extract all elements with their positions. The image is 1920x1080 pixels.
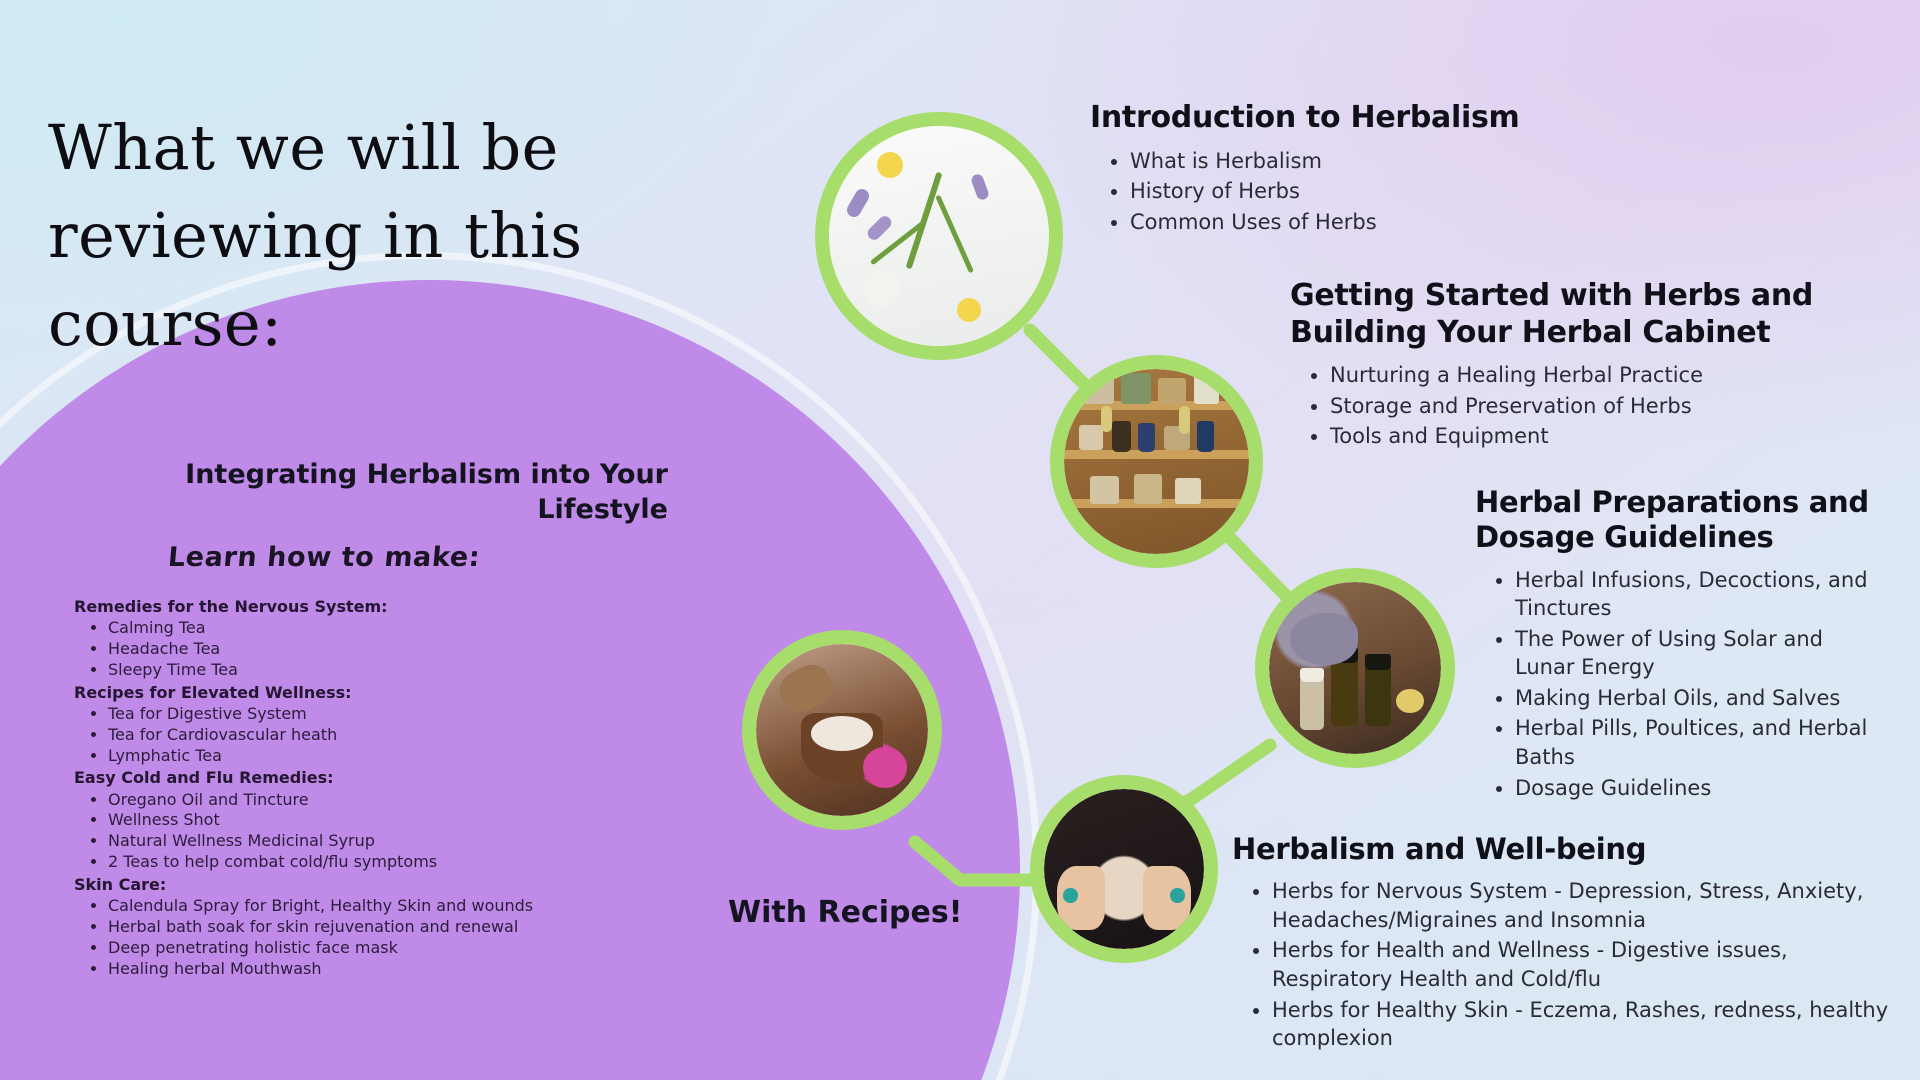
- section-herbal-preparations-and-dosage: Herbal Preparations and Dosage Guideline…: [1475, 485, 1870, 804]
- recipe-group-title: Remedies for the Nervous System:: [74, 597, 714, 616]
- section-getting-started-with-herbs: Getting Started with Herbs and Building …: [1290, 278, 1820, 453]
- recipe-group: Skin Care: Calendula Spray for Bright, H…: [74, 875, 714, 979]
- list-item: Herbal bath soak for skin rejuvenation a…: [108, 917, 714, 937]
- list-item: Herbal Infusions, Decoctions, and Tinctu…: [1515, 566, 1870, 623]
- section-heading: Getting Started with Herbs and Building …: [1290, 278, 1820, 351]
- recipe-list: Remedies for the Nervous System: Calming…: [74, 594, 714, 979]
- recipe-group-items: Oregano Oil and Tincture Wellness Shot N…: [74, 790, 714, 872]
- essential-oil-bottles-photo: [1269, 582, 1441, 754]
- list-item: Making Herbal Oils, and Salves: [1515, 684, 1870, 713]
- mortar-and-pestle-photo: [756, 644, 928, 816]
- list-item: What is Herbalism: [1130, 147, 1610, 176]
- lifestyle-heading: Integrating Herbalism into Your Lifestyl…: [168, 458, 668, 527]
- section-bullet-list: Herbal Infusions, Decoctions, and Tinctu…: [1475, 566, 1870, 802]
- herbal-cabinet-shelf-photo: [1064, 369, 1249, 554]
- bubble-essential-oil-bottles-photo: [1255, 568, 1455, 768]
- list-item: Common Uses of Herbs: [1130, 208, 1610, 237]
- recipe-group-title: Recipes for Elevated Wellness:: [74, 683, 714, 702]
- bubble-lavender-chamomile-photo: [815, 112, 1063, 360]
- bubble-hands-holding-tea-cup-photo: [1030, 775, 1218, 963]
- list-item: Storage and Preservation of Herbs: [1330, 392, 1820, 421]
- section-introduction-to-herbalism: Introduction to Herbalism What is Herbal…: [1090, 100, 1610, 238]
- hands-holding-tea-cup-photo: [1044, 789, 1204, 949]
- recipe-group-items: Calming Tea Headache Tea Sleepy Time Tea: [74, 618, 714, 679]
- list-item: Herbal Pills, Poultices, and Herbal Bath…: [1515, 714, 1870, 771]
- list-item: Herbs for Health and Wellness - Digestiv…: [1272, 936, 1892, 993]
- recipe-group-items: Calendula Spray for Bright, Healthy Skin…: [74, 896, 714, 978]
- list-item: Calendula Spray for Bright, Healthy Skin…: [108, 896, 714, 916]
- list-item: Tea for Digestive System: [108, 704, 714, 724]
- with-recipes-label: With Recipes!: [728, 895, 962, 930]
- bubble-herbal-cabinet-shelf-photo: [1050, 355, 1263, 568]
- list-item: Healing herbal Mouthwash: [108, 959, 714, 979]
- page-title: What we will be reviewing in this course…: [48, 104, 668, 368]
- recipe-group: Recipes for Elevated Wellness: Tea for D…: [74, 683, 714, 766]
- list-item: Calming Tea: [108, 618, 714, 638]
- lavender-chamomile-photo: [829, 126, 1049, 346]
- section-herbalism-and-well-being: Herbalism and Well-being Herbs for Nervo…: [1232, 832, 1892, 1055]
- recipe-group-title: Skin Care:: [74, 875, 714, 894]
- list-item: Deep penetrating holistic face mask: [108, 938, 714, 958]
- bubble-mortar-and-pestle-photo: [742, 630, 942, 830]
- infographic-canvas: What we will be reviewing in this course…: [0, 0, 1920, 1080]
- section-heading: Introduction to Herbalism: [1090, 100, 1610, 137]
- list-item: Herbs for Healthy Skin - Eczema, Rashes,…: [1272, 996, 1892, 1053]
- list-item: The Power of Using Solar and Lunar Energ…: [1515, 625, 1870, 682]
- recipe-group: Remedies for the Nervous System: Calming…: [74, 597, 714, 680]
- list-item: Lymphatic Tea: [108, 746, 714, 766]
- list-item: Herbs for Nervous System - Depression, S…: [1272, 877, 1892, 934]
- section-heading: Herbalism and Well-being: [1232, 832, 1892, 867]
- list-item: 2 Teas to help combat cold/flu symptoms: [108, 852, 714, 872]
- recipe-group-items: Tea for Digestive System Tea for Cardiov…: [74, 704, 714, 765]
- list-item: Wellness Shot: [108, 810, 714, 830]
- list-item: Tea for Cardiovascular heath: [108, 725, 714, 745]
- list-item: Natural Wellness Medicinal Syrup: [108, 831, 714, 851]
- learn-how-to-make-label: Learn how to make:: [167, 542, 482, 573]
- recipe-group: Easy Cold and Flu Remedies: Oregano Oil …: [74, 768, 714, 872]
- section-bullet-list: Herbs for Nervous System - Depression, S…: [1232, 877, 1892, 1052]
- list-item: History of Herbs: [1130, 177, 1610, 206]
- list-item: Nurturing a Healing Herbal Practice: [1330, 361, 1820, 390]
- list-item: Headache Tea: [108, 639, 714, 659]
- list-item: Sleepy Time Tea: [108, 660, 714, 680]
- section-bullet-list: What is Herbalism History of Herbs Commo…: [1090, 147, 1610, 237]
- section-bullet-list: Nurturing a Healing Herbal Practice Stor…: [1290, 361, 1820, 451]
- list-item: Tools and Equipment: [1330, 422, 1820, 451]
- list-item: Dosage Guidelines: [1515, 774, 1870, 803]
- section-heading: Herbal Preparations and Dosage Guideline…: [1475, 485, 1870, 556]
- list-item: Oregano Oil and Tincture: [108, 790, 714, 810]
- recipe-group-title: Easy Cold and Flu Remedies:: [74, 768, 714, 787]
